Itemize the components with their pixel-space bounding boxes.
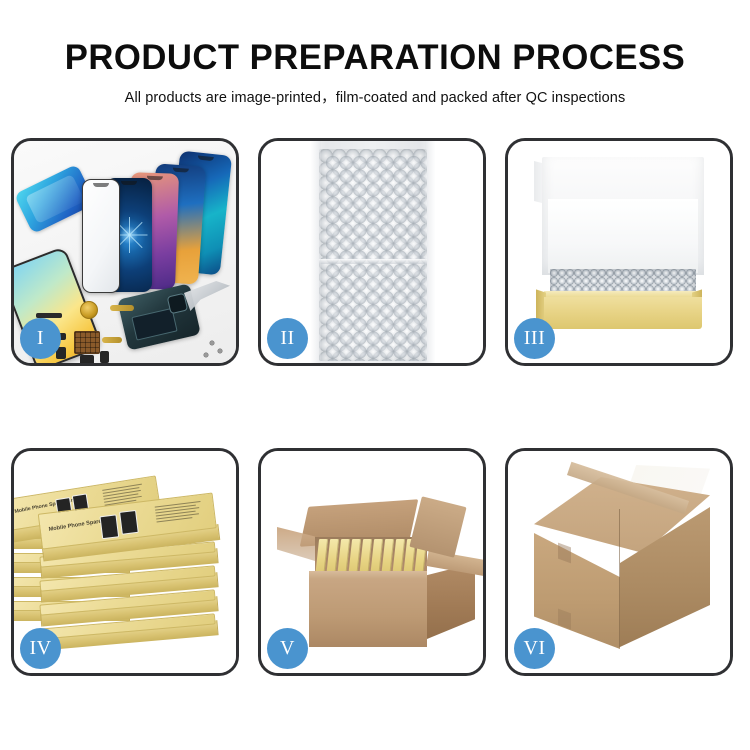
screw-part-2 xyxy=(218,349,222,353)
bubble-wrap-seam xyxy=(319,259,427,264)
process-step-3: III xyxy=(505,138,733,366)
step-6-illustration: VI xyxy=(508,451,730,673)
screw-part-3 xyxy=(204,353,208,357)
process-step-1: I xyxy=(11,138,239,366)
phone-graphic-a xyxy=(99,514,119,539)
flex-cable-part-2 xyxy=(102,337,122,343)
ic-chip-part xyxy=(74,331,100,354)
step-badge-2: II xyxy=(267,318,308,359)
step-3-illustration: III xyxy=(508,141,730,363)
step-badge-1: I xyxy=(20,318,61,359)
step-2-illustration: II xyxy=(261,141,483,363)
step-4-illustration: Mobile Phone Spare Parts xyxy=(14,451,236,673)
notch-icon xyxy=(173,168,189,173)
notch-icon xyxy=(93,183,109,187)
sleeve-edge-left xyxy=(311,141,321,363)
notch-icon xyxy=(121,181,137,185)
foam-insert xyxy=(548,199,698,273)
process-step-6: VI xyxy=(505,448,733,676)
carton-front-face xyxy=(309,579,427,647)
process-step-4: Mobile Phone Spare Parts xyxy=(11,448,239,676)
page-subtitle: All products are image-printed，film-coat… xyxy=(0,86,750,107)
kraft-box-front xyxy=(544,297,702,329)
step-badge-4: IV xyxy=(20,628,61,669)
step-badge-3: III xyxy=(514,318,555,359)
step-5-illustration: V xyxy=(261,451,483,673)
process-step-grid: I II III xyxy=(11,138,739,688)
process-step-2: II xyxy=(258,138,486,366)
button-part xyxy=(100,351,109,363)
flex-cable-part-1 xyxy=(110,305,134,311)
step-1-illustration: I xyxy=(14,141,236,363)
carton-vertical-edge xyxy=(619,509,620,647)
screw-part-1 xyxy=(210,341,214,345)
header: PRODUCT PREPARATION PROCESS All products… xyxy=(0,0,750,130)
vibrator-part xyxy=(80,355,94,363)
phone-glass-panel-1 xyxy=(82,179,120,293)
step-badge-6: VI xyxy=(514,628,555,669)
page-title: PRODUCT PREPARATION PROCESS xyxy=(4,38,747,78)
phone-graphic-b xyxy=(119,510,139,535)
taptic-coil-part xyxy=(80,301,98,319)
spec-lines xyxy=(155,501,203,524)
process-step-5: V xyxy=(258,448,486,676)
step-badge-5: V xyxy=(267,628,308,669)
camera-module-part xyxy=(167,293,189,315)
sleeve-edge-right xyxy=(425,141,435,363)
notch-icon xyxy=(198,155,214,161)
